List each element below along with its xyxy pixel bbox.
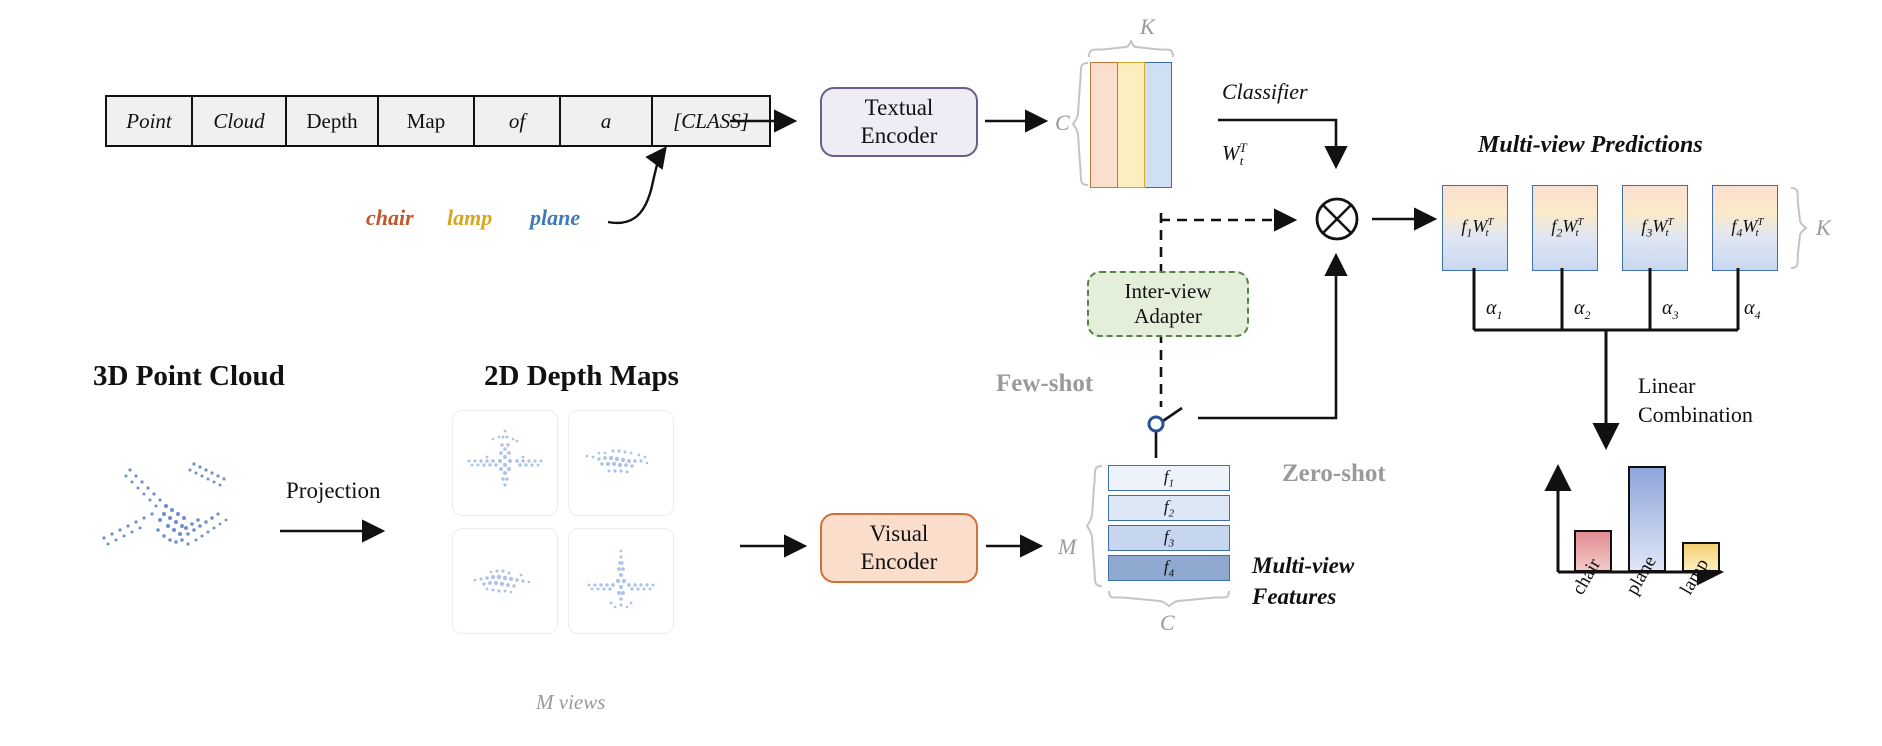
alpha-label-4: α4	[1744, 297, 1761, 323]
feature-row-4[interactable]: f4	[1108, 555, 1230, 581]
depth-map-2-visual	[569, 411, 673, 515]
projection-label: Projection	[286, 478, 381, 504]
depth-maps-grid	[452, 410, 672, 634]
arrow-visual-encoder-to-features	[986, 533, 1056, 559]
dashed-arrow-adapter-to-operator	[1160, 205, 1312, 235]
prompt-token-4[interactable]: of	[475, 97, 561, 145]
linear-combination-label: Linear Combination	[1638, 372, 1753, 429]
alpha-label-3: α3	[1662, 297, 1679, 323]
depth-map-tile-1[interactable]	[452, 410, 558, 516]
prediction-box-3[interactable]: f3WTt	[1622, 185, 1688, 271]
arrow-depth-maps-to-visual-encoder	[740, 533, 820, 559]
prediction-label-1: f1WTt	[1461, 216, 1488, 241]
features-left-brace-icon	[1086, 465, 1103, 587]
multi-view-feature-stack: f1 f2 f3 f4	[1108, 465, 1230, 585]
depth-map-tile-4[interactable]	[568, 528, 674, 634]
prompt-token-2[interactable]: Depth	[287, 97, 379, 145]
predictions-brace-icon	[1790, 187, 1808, 269]
feature-label-2: f2	[1164, 497, 1174, 519]
features-bottom-brace-icon	[1108, 590, 1230, 607]
tensor-product-icon	[1310, 192, 1364, 246]
prediction-label-3: f3WTt	[1641, 216, 1668, 241]
classifier-brace-top-label: K	[1140, 14, 1155, 40]
classifier-column-lamp	[1118, 62, 1145, 188]
features-caption: Multi-view Features	[1252, 550, 1354, 612]
class-curved-arrow-icon	[586, 128, 696, 228]
classifier-column-plane	[1145, 62, 1172, 188]
feature-row-2[interactable]: f2	[1108, 495, 1230, 521]
features-brace-bottom-label: C	[1160, 610, 1175, 636]
feature-row-1[interactable]: f1	[1108, 465, 1230, 491]
dashed-line-adapter-to-switch	[1155, 333, 1171, 411]
point-cloud-visual	[70, 440, 280, 580]
prediction-box-2[interactable]: f2WTt	[1532, 185, 1598, 271]
zero-shot-label: Zero-shot	[1282, 460, 1386, 488]
features-brace-left-label: M	[1058, 534, 1076, 560]
classifier-left-brace-icon	[1072, 62, 1089, 186]
prompt-token-1[interactable]: Cloud	[193, 97, 287, 145]
prediction-label-4: f4WTt	[1731, 216, 1758, 241]
point-cloud-title: 3D Point Cloud	[93, 360, 285, 393]
prediction-label-2: f2WTt	[1551, 216, 1578, 241]
classifier-column-chair	[1090, 62, 1118, 188]
arrow-classifier-to-operator	[1218, 108, 1350, 188]
arrow-to-bar-chart	[1592, 352, 1622, 462]
dashed-line-adapter-vertical	[1155, 205, 1171, 275]
predictions-brace-label: K	[1816, 215, 1831, 241]
visual-encoder-line1: Visual	[870, 520, 929, 548]
depth-map-4-visual	[569, 529, 673, 633]
predictions-title: Multi-view Predictions	[1478, 132, 1703, 159]
class-word-plane[interactable]: plane	[530, 205, 580, 231]
alpha-label-1: α1	[1486, 297, 1503, 323]
feature-label-4: f4	[1164, 557, 1174, 579]
views-label: M views	[536, 690, 605, 715]
classifier-matrix[interactable]	[1090, 62, 1172, 186]
depth-maps-title: 2D Depth Maps	[484, 360, 679, 393]
class-word-chair[interactable]: chair	[366, 205, 414, 231]
arrow-textual-encoder-to-classifier	[985, 108, 1065, 134]
visual-encoder-box[interactable]: Visual Encoder	[820, 513, 978, 583]
class-word-lamp[interactable]: lamp	[447, 205, 492, 231]
arrow-projection	[280, 518, 400, 544]
prediction-box-4[interactable]: f4WTt	[1712, 185, 1778, 271]
depth-map-1-visual	[453, 411, 557, 515]
textual-encoder-line2: Encoder	[861, 122, 938, 150]
prediction-box-1[interactable]: f1WTt	[1442, 185, 1508, 271]
arrow-prompt-to-textual-encoder	[730, 108, 810, 134]
prediction-boxes-row: f1WTt f2WTt f3WTt f4WTt	[1442, 185, 1778, 271]
depth-map-tile-3[interactable]	[452, 528, 558, 634]
feature-label-3: f3	[1164, 527, 1174, 549]
prompt-token-3[interactable]: Map	[379, 97, 475, 145]
few-shot-label: Few-shot	[996, 370, 1093, 398]
feature-label-1: f1	[1164, 467, 1174, 489]
feature-row-3[interactable]: f3	[1108, 525, 1230, 551]
arrow-features-to-operator	[1180, 240, 1350, 430]
prompt-token-0[interactable]: Point	[107, 97, 193, 145]
depth-map-tile-2[interactable]	[568, 410, 674, 516]
textual-encoder-box[interactable]: Textual Encoder	[820, 87, 978, 157]
visual-encoder-line2: Encoder	[861, 548, 938, 576]
textual-encoder-line1: Textual	[865, 94, 934, 122]
classifier-top-brace-icon	[1088, 40, 1174, 58]
depth-map-3-visual	[453, 529, 557, 633]
classifier-title: Classifier	[1222, 79, 1308, 105]
classifier-brace-left-label: C	[1055, 110, 1070, 136]
alpha-label-2: α2	[1574, 297, 1591, 323]
